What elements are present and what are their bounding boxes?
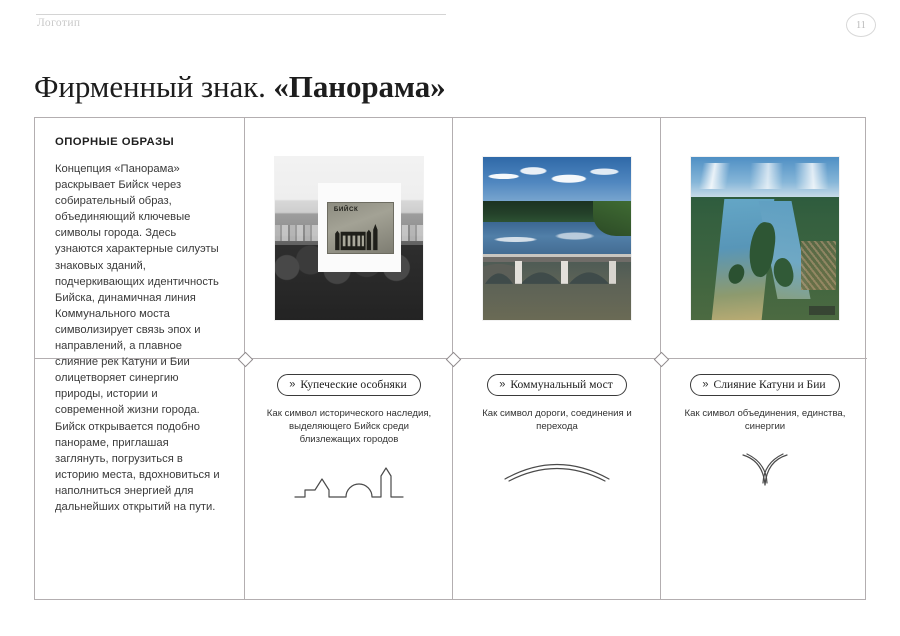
rivers-confluence-aerial-photo [691, 157, 839, 320]
bridge-arch-row [483, 261, 631, 284]
card-pill-label-2: Коммунальный мост [510, 378, 612, 391]
aerial-settlement [801, 241, 837, 290]
double-chevron-right-icon: » [289, 380, 294, 391]
card-pill-label-3: Слияние Катуни и Бии [714, 378, 826, 391]
card-glyph-2 [463, 452, 651, 486]
card-caption-1: Как символ исторического наследия, выдел… [260, 407, 438, 447]
double-chevron-right-icon: » [499, 380, 504, 391]
souvenir-badge-card: БИЙСК [318, 183, 401, 273]
badge-building-silhouette-icon [333, 222, 387, 251]
bridge-clouds [483, 160, 631, 199]
bridge-photo-backdrop [483, 157, 631, 320]
aerial-clouds [691, 163, 839, 189]
bridge-arc-glyph [501, 452, 613, 486]
card-caption-2: Как символ дороги, соединения и перехода [468, 407, 646, 433]
logo-rule [36, 14, 446, 15]
bridge-arches-icon [483, 261, 631, 284]
card-caption-cell-3: » Слияние Катуни и Бии Как символ объеди… [661, 359, 869, 600]
card-image-cell-2 [453, 118, 661, 358]
aerial-photo-backdrop [691, 157, 839, 320]
badge-city-name: БИЙСК [334, 206, 359, 213]
souvenir-badge-plate: БИЙСК [327, 202, 394, 254]
card-image-cell-1: БИЙСК [245, 118, 453, 358]
card-caption-3: Как символ объединения, единства, синерг… [676, 407, 854, 433]
vintage-biysk-townscape-photo: БИЙСК [275, 157, 423, 320]
slide-header: Логотип 11 Фирменный знак. «Панорама» [0, 0, 900, 110]
double-chevron-right-icon: » [702, 380, 707, 391]
content-panel: ОПОРНЫЕ ОБРАЗЫ Концепция «Панорама» раск… [34, 117, 866, 600]
card-caption-cell-1: » Купеческие особняки Как символ историч… [245, 359, 453, 600]
page-number-value: 11 [856, 20, 866, 31]
rivers-confluence-glyph [709, 452, 821, 492]
page-number-badge: 11 [846, 13, 876, 37]
card-pill-2[interactable]: » Коммунальный мост [487, 374, 627, 396]
card-image-cell-3 [661, 118, 869, 358]
card-pill-1[interactable]: » Купеческие особняки [277, 374, 420, 396]
concept-text-column: ОПОРНЫЕ ОБРАЗЫ Концепция «Панорама» раск… [35, 118, 244, 599]
page-title-accent: «Панорама» [273, 69, 445, 104]
kommunalny-bridge-photo [483, 157, 631, 320]
concept-body: Концепция «Панорама» раскрывает Бийск че… [55, 161, 224, 515]
card-glyph-3 [671, 452, 859, 492]
card-pill-label-1: Купеческие особняки [300, 378, 406, 391]
card-caption-cell-2: » Коммунальный мост Как символ дороги, с… [453, 359, 661, 600]
concept-kicker: ОПОРНЫЕ ОБРАЗЫ [55, 136, 224, 148]
card-glyph-1 [255, 466, 443, 500]
logo-label: Логотип [37, 17, 80, 29]
page-title-main: Фирменный знак. [34, 69, 273, 104]
aerial-watermark [809, 306, 834, 314]
card-pill-3[interactable]: » Слияние Катуни и Бии [690, 374, 839, 396]
page-title: Фирменный знак. «Панорама» [34, 69, 446, 105]
merchant-mansions-skyline-glyph [293, 466, 405, 500]
